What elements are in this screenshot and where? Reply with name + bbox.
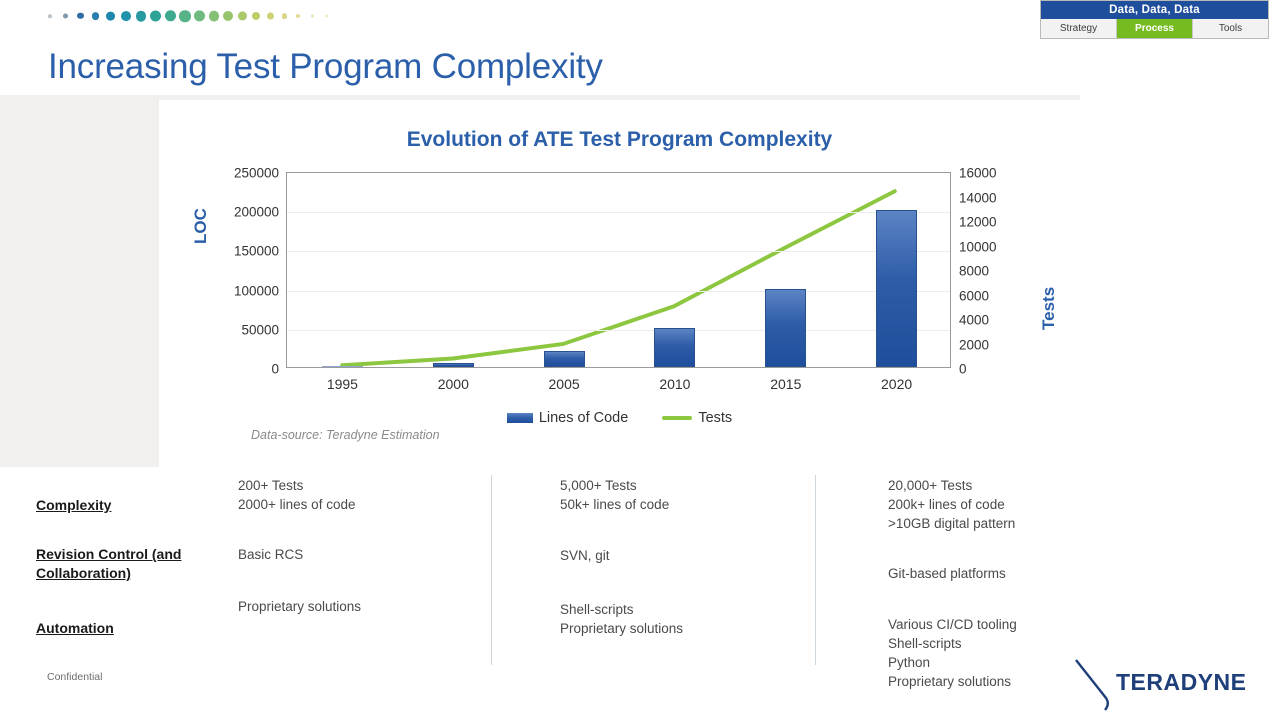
bar-swatch-icon — [507, 413, 533, 423]
y-tick-left-250000: 250000 — [234, 166, 279, 181]
y-tick-right-12000: 12000 — [959, 215, 997, 230]
dot-19 — [311, 15, 314, 18]
dot-2 — [63, 14, 68, 19]
y-axis-right-label: Tests — [1039, 287, 1059, 330]
bar-1995 — [322, 366, 363, 367]
decorative-dot-strip — [48, 6, 348, 26]
x-tick-2000: 2000 — [438, 376, 469, 392]
table-cell-r2-c0: Proprietary solutions — [238, 597, 488, 616]
dot-16 — [267, 13, 274, 20]
dot-17 — [282, 13, 288, 19]
gridline — [287, 330, 950, 331]
y-tick-right-8000: 8000 — [959, 264, 989, 279]
bar-2000 — [433, 363, 474, 367]
nav-tab-process[interactable]: Process — [1117, 19, 1193, 38]
y-tick-right-2000: 2000 — [959, 337, 989, 352]
teradyne-logo: TERADYNE — [1072, 658, 1262, 712]
table-row-label-2: Automation — [36, 619, 226, 638]
dot-13 — [223, 11, 233, 21]
section-nav-box: Data, Data, Data Strategy Process Tools — [1040, 0, 1269, 39]
dot-1 — [48, 14, 52, 18]
chart-data-source-note: Data-source: Teradyne Estimation — [251, 428, 440, 442]
tests-line-series — [287, 173, 950, 367]
table-row-label-1: Revision Control (and Collaboration) — [36, 545, 226, 583]
y-tick-right-14000: 14000 — [959, 190, 997, 205]
legend-label-lines-of-code: Lines of Code — [539, 410, 628, 426]
dot-15 — [252, 12, 260, 20]
dot-8 — [150, 10, 161, 21]
table-column-divider-1 — [491, 475, 492, 665]
table-cell-r1-c2: Git-based platforms — [888, 564, 1138, 583]
dot-10 — [179, 10, 191, 22]
nav-tab-strategy[interactable]: Strategy — [1041, 19, 1117, 38]
table-cell-r0-c1: 5,000+ Tests 50k+ lines of code — [560, 476, 810, 514]
y-tick-right-10000: 10000 — [959, 239, 997, 254]
dot-14 — [238, 11, 247, 20]
gridline — [287, 212, 950, 213]
table-cell-r1-c0: Basic RCS — [238, 545, 488, 564]
table-cell-r1-c1: SVN, git — [560, 546, 810, 565]
chart-title: Evolution of ATE Test Program Complexity — [159, 128, 1080, 152]
table-column-divider-2 — [815, 475, 816, 665]
y-tick-right-6000: 6000 — [959, 288, 989, 303]
dot-3 — [77, 13, 83, 19]
gridline — [287, 291, 950, 292]
bar-2020 — [876, 210, 917, 367]
legend-item-lines-of-code: Lines of Code — [507, 410, 628, 426]
x-tick-2020: 2020 — [881, 376, 912, 392]
dot-9 — [165, 10, 176, 21]
plot-area: 0500001000001500002000002500000200040006… — [286, 172, 951, 368]
nav-tabs: Strategy Process Tools — [1041, 19, 1268, 38]
table-cell-r0-c2: 20,000+ Tests 200k+ lines of code >10GB … — [888, 476, 1138, 533]
y-tick-left-100000: 100000 — [234, 283, 279, 298]
table-cell-r2-c1: Shell-scripts Proprietary solutions — [560, 600, 810, 638]
teradyne-wordmark: TERADYNE — [1116, 669, 1247, 696]
gridline — [287, 251, 950, 252]
bar-2015 — [765, 289, 806, 367]
dot-5 — [106, 12, 115, 21]
line-swatch-icon — [662, 416, 692, 420]
y-tick-left-0: 0 — [271, 362, 279, 377]
comparison-table: Complexity200+ Tests 2000+ lines of code… — [0, 467, 1269, 687]
nav-tab-tools[interactable]: Tools — [1193, 19, 1268, 38]
y-tick-left-200000: 200000 — [234, 205, 279, 220]
y-tick-right-4000: 4000 — [959, 313, 989, 328]
x-tick-2005: 2005 — [549, 376, 580, 392]
nav-title: Data, Data, Data — [1041, 1, 1268, 19]
chart-panel: Evolution of ATE Test Program Complexity… — [159, 100, 1080, 467]
page-title: Increasing Test Program Complexity — [48, 47, 603, 87]
dot-20 — [325, 15, 328, 18]
x-tick-2010: 2010 — [659, 376, 690, 392]
y-tick-right-16000: 16000 — [959, 166, 997, 181]
dot-11 — [194, 10, 205, 21]
legend-label-tests: Tests — [698, 410, 732, 426]
legend-item-tests: Tests — [662, 410, 732, 426]
dot-6 — [121, 11, 131, 21]
y-tick-left-50000: 50000 — [241, 322, 279, 337]
bar-2010 — [654, 328, 695, 367]
table-cell-r0-c0: 200+ Tests 2000+ lines of code — [238, 476, 488, 514]
x-tick-1995: 1995 — [327, 376, 358, 392]
dot-4 — [92, 12, 100, 20]
y-tick-right-0: 0 — [959, 362, 967, 377]
y-axis-left-label: LOC — [191, 208, 211, 244]
confidential-footer: Confidential — [47, 671, 102, 683]
dot-7 — [136, 11, 147, 22]
x-tick-2015: 2015 — [770, 376, 801, 392]
dot-12 — [209, 11, 220, 22]
dot-18 — [296, 14, 300, 18]
table-row-label-0: Complexity — [36, 496, 226, 515]
y-tick-left-150000: 150000 — [234, 244, 279, 259]
bar-2005 — [544, 351, 585, 367]
chart-legend: Lines of Code Tests — [159, 410, 1080, 426]
